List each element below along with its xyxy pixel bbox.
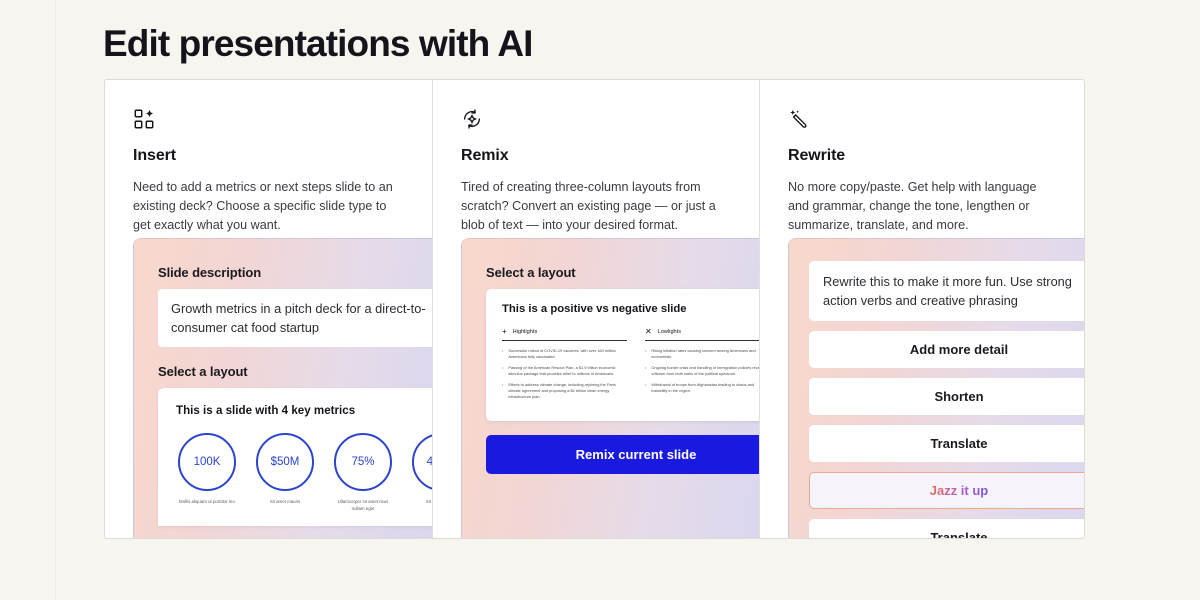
metrics-row: 100K Mollis aliquam ut porttitor leo $50… — [176, 433, 432, 512]
metrics-slide-title: This is a slide with 4 key metrics — [176, 404, 432, 417]
remix-preview-panel: Select a layout This is a positive vs ne… — [461, 238, 759, 538]
column-lowlights: ✕ Lowlights •Rising inflation rates caus… — [645, 328, 759, 405]
card-rewrite: Rewrite No more copy/paste. Get help wit… — [759, 80, 1085, 538]
bullet-text: Passing of the American Rescue Plan, a $… — [508, 365, 627, 376]
slide-description-input[interactable]: Growth metrics in a pitch deck for a dir… — [158, 289, 432, 347]
rewrite-option-translate-2[interactable]: Translate — [809, 519, 1085, 538]
metric-value: $50M — [256, 433, 314, 491]
remix-loop-sparkle-icon — [461, 108, 731, 134]
plus-icon: + — [502, 328, 507, 336]
card-rewrite-description: No more copy/paste. Get help with langua… — [788, 178, 1050, 235]
card-insert-header: Insert Need to add a metrics or next ste… — [105, 80, 432, 235]
card-insert-description: Need to add a metrics or next steps slid… — [133, 178, 395, 235]
bullet-dot: • — [645, 348, 646, 359]
background-rule — [55, 0, 56, 600]
rewrite-preview-panel: Rewrite this to make it more fun. Use st… — [788, 238, 1085, 538]
close-icon: ✕ — [645, 328, 652, 336]
rewrite-prompt-input[interactable]: Rewrite this to make it more fun. Use st… — [809, 261, 1085, 321]
bullet-dot: • — [502, 348, 503, 359]
metric-caption: Sit amet mauris — [410, 499, 432, 506]
metric-value: 4,000 — [412, 433, 432, 491]
bullet-dot: • — [502, 382, 503, 399]
card-remix-title: Remix — [461, 147, 731, 165]
card-insert: Insert Need to add a metrics or next ste… — [105, 80, 432, 538]
metric-caption: Mollis aliquam ut porttitor leo — [176, 499, 238, 506]
metric-item: 75% Ullamcorper sit amet risus nullam eg… — [332, 433, 394, 512]
column-highlights-header: + Highlights — [502, 328, 627, 341]
rewrite-option-jazz-it-up-label: Jazz it up — [930, 483, 989, 498]
bullet-item: •Ongoing border crisis and handling of i… — [645, 365, 759, 376]
select-layout-label: Select a layout — [486, 265, 759, 280]
bullet-item: •Efforts to address climate change, incl… — [502, 382, 627, 399]
remix-slide-preview[interactable]: This is a positive vs negative slide + H… — [486, 289, 759, 421]
column-lowlights-header: ✕ Lowlights — [645, 328, 759, 341]
metric-value: 75% — [334, 433, 392, 491]
feature-cards: Insert Need to add a metrics or next ste… — [104, 79, 1085, 539]
column-lowlights-label: Lowlights — [658, 329, 681, 335]
insert-preview-panel: Slide description Growth metrics in a pi… — [133, 238, 432, 538]
rewrite-option-add-more-detail[interactable]: Add more detail — [809, 331, 1085, 368]
bullet-text: Ongoing border crisis and handling of im… — [651, 365, 759, 376]
bullet-text: Efforts to address climate change, inclu… — [508, 382, 627, 399]
column-highlights: + Highlights •Successful rollout of COVI… — [502, 328, 627, 405]
metric-item: 4,000 Sit amet mauris — [410, 433, 432, 512]
card-remix-header: Remix Tired of creating three-column lay… — [433, 80, 759, 235]
bullet-dot: • — [502, 365, 503, 376]
rewrite-option-shorten[interactable]: Shorten — [809, 378, 1085, 415]
metric-value: 100K — [178, 433, 236, 491]
remix-current-slide-button[interactable]: Remix current slide — [486, 435, 759, 474]
column-highlights-label: Highlights — [513, 329, 538, 335]
card-rewrite-title: Rewrite — [788, 147, 1058, 165]
bullet-text: Withdrawal of troops from Afghanistan le… — [651, 382, 759, 393]
page-title: Edit presentations with AI — [103, 20, 533, 68]
bullet-item: •Successful rollout of COVID-19 vaccines… — [502, 348, 627, 359]
metric-item: $50M Sit amet mauris — [254, 433, 316, 512]
card-remix-description: Tired of creating three-column layouts f… — [461, 178, 723, 235]
bullet-text: Rising inflation rates causing concern a… — [651, 348, 759, 359]
remix-slide-title: This is a positive vs negative slide — [502, 303, 759, 315]
card-rewrite-header: Rewrite No more copy/paste. Get help wit… — [760, 80, 1085, 235]
metric-item: 100K Mollis aliquam ut porttitor leo — [176, 433, 238, 512]
rewrite-option-jazz-it-up[interactable]: Jazz it up — [809, 472, 1085, 509]
metric-caption: Sit amet mauris — [254, 499, 316, 506]
metric-caption: Ullamcorper sit amet risus nullam eget — [332, 499, 394, 512]
bullet-text: Successful rollout of COVID-19 vaccines,… — [508, 348, 627, 359]
rewrite-prompt-line-2: action verbs and creative phrasing — [823, 291, 1085, 310]
grid-sparkle-icon — [133, 108, 404, 134]
bullet-dot: • — [645, 382, 646, 393]
slide-description-label: Slide description — [158, 265, 432, 280]
bullet-item: •Rising inflation rates causing concern … — [645, 348, 759, 359]
bullet-dot: • — [645, 365, 646, 376]
card-remix: Remix Tired of creating three-column lay… — [432, 80, 759, 538]
bullet-item: •Passing of the American Rescue Plan, a … — [502, 365, 627, 376]
rewrite-prompt-line-1: Rewrite this to make it more fun. Use st… — [823, 272, 1085, 291]
select-layout-label: Select a layout — [158, 364, 432, 379]
metrics-slide-preview[interactable]: This is a slide with 4 key metrics 100K … — [158, 388, 432, 526]
magic-wand-icon — [788, 108, 1058, 134]
rewrite-option-translate[interactable]: Translate — [809, 425, 1085, 462]
card-insert-title: Insert — [133, 147, 404, 165]
remix-columns: + Highlights •Successful rollout of COVI… — [502, 328, 759, 405]
bullet-item: •Withdrawal of troops from Afghanistan l… — [645, 382, 759, 393]
